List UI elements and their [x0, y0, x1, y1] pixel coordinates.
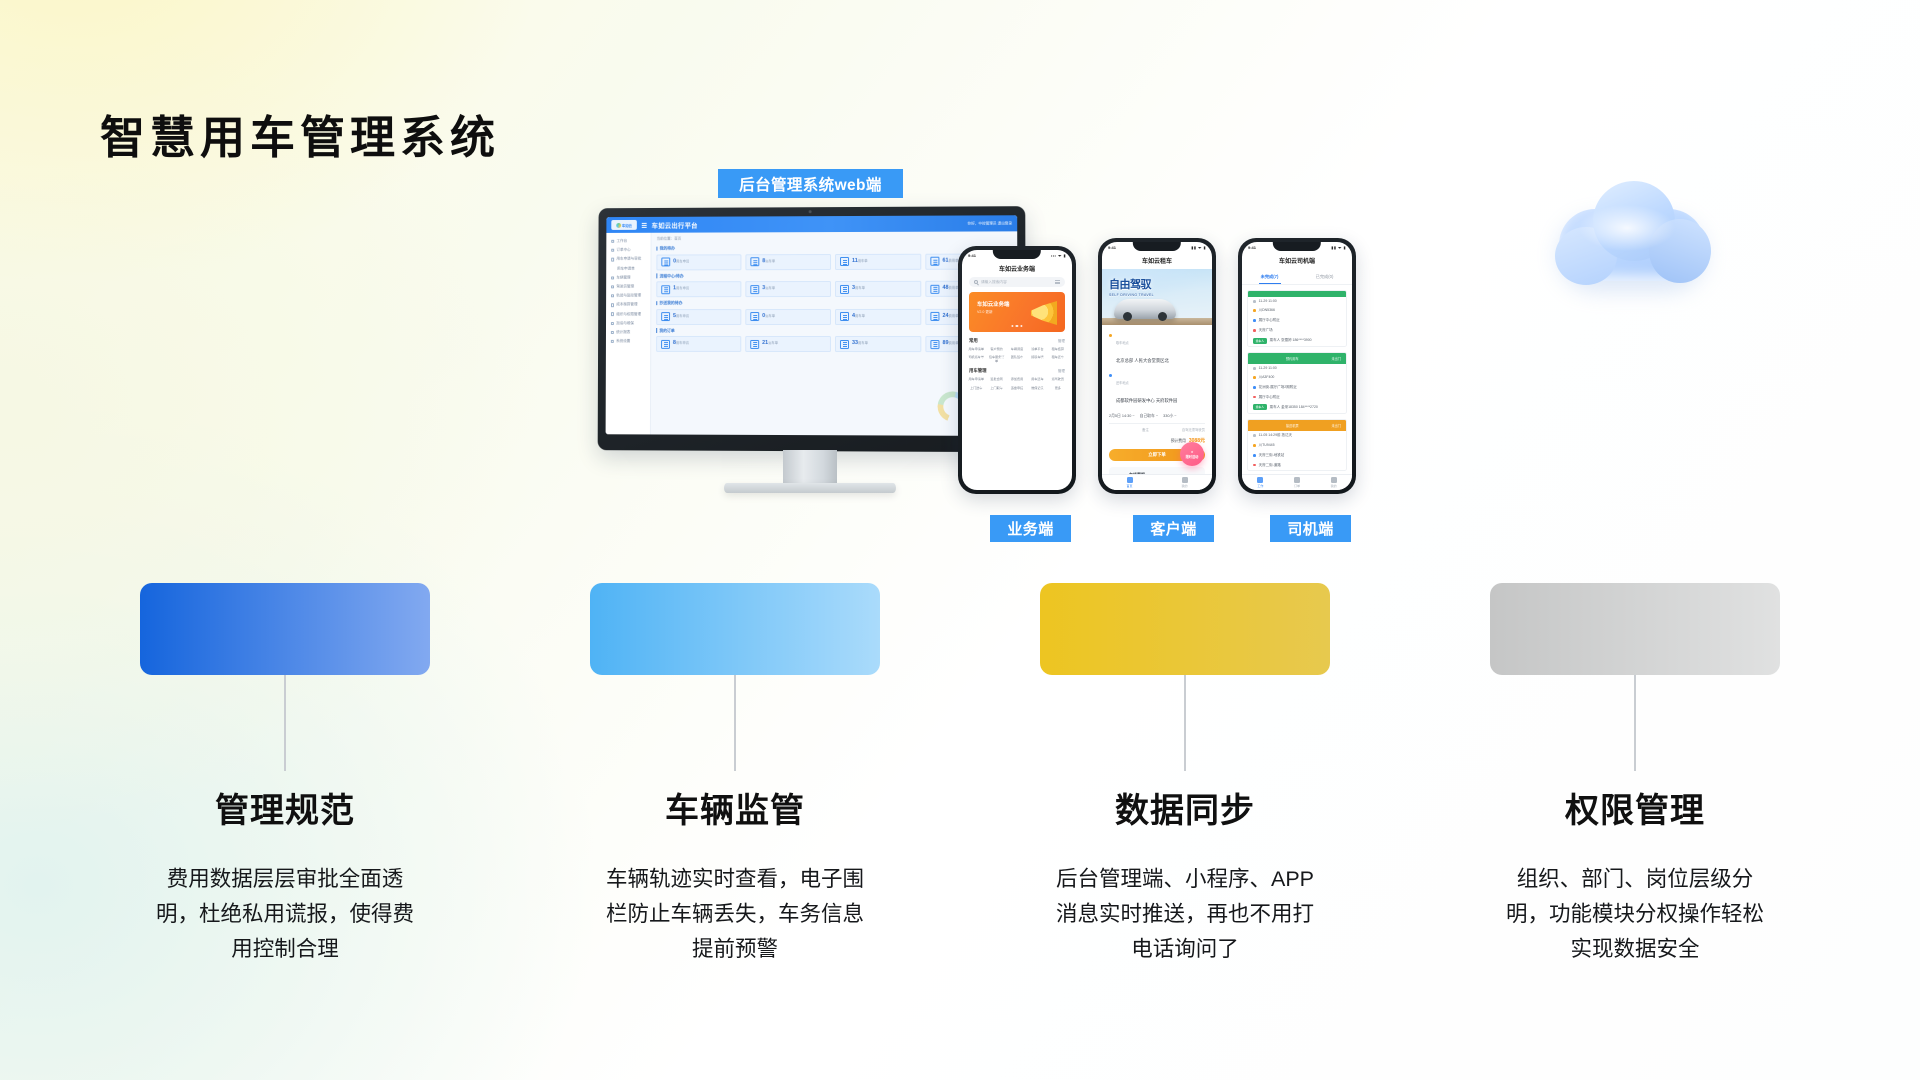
document-icon: [661, 257, 670, 266]
job-line: 11-05 14:29前 抵达天: [1248, 431, 1346, 441]
trip-datetime: 2月5日 14:30 ~: [1109, 414, 1135, 419]
sidebar-item[interactable]: 驾驶员管理: [609, 282, 647, 291]
passenger-chip: 乘车人: [1253, 404, 1267, 410]
tab-label: 我的: [1181, 484, 1187, 488]
feature-title: 车辆监管: [590, 783, 880, 832]
feature-bar: [1490, 583, 1780, 675]
badge-driver-client: 司机端: [1270, 515, 1351, 542]
app-icon-tile[interactable]: 接驳车辆: [1028, 356, 1046, 363]
job-line: 11-29 11:00: [1248, 364, 1346, 373]
app-tile-label: 团队班车: [1008, 356, 1026, 359]
car-icon: [1294, 477, 1300, 483]
tab-orders[interactable]: 订单: [1279, 475, 1316, 490]
app-icon-tile[interactable]: 派驾驶员: [1049, 378, 1067, 381]
notch: [993, 250, 1041, 259]
app-icon-tile[interactable]: 违章申报: [1008, 387, 1026, 390]
app-tile-label: 签批合同: [987, 378, 1005, 381]
sidebar-item-label: 用车申请单: [617, 266, 635, 271]
phone-mockup-driver: 9:41 ▮▮ ᯤ ▮ 车如云司机端 未完成(7) 已完成(0) 11-29 1…: [1238, 238, 1356, 494]
sidebar-item[interactable]: 系统设置: [609, 337, 647, 346]
stat-card[interactable]: 3派车单: [745, 281, 831, 297]
sidebar-item[interactable]: 组织与权限管理: [609, 310, 647, 319]
job-status: 未出门: [1331, 356, 1341, 361]
app-tile-label: 接驳车辆: [1028, 356, 1046, 359]
sidebar-icon: [611, 240, 614, 243]
app-tile-label: 维保记录: [1028, 387, 1046, 390]
sidebar-item[interactable]: 轨迹与监控管理: [609, 291, 647, 300]
app-icon-tile[interactable]: 团队班车: [1008, 356, 1026, 363]
sidebar-icon: [611, 285, 614, 288]
stat-card[interactable]: 11用车单: [835, 253, 921, 269]
sidebar-icon: [611, 258, 614, 261]
badge-customer-client: 客户端: [1133, 515, 1214, 542]
app-icon-tile[interactable]: 包车服务订单: [987, 356, 1005, 363]
document-icon: [840, 312, 849, 321]
hero-word: 自由驾驭: [1109, 279, 1151, 291]
job-line: 11-29 11:00: [1248, 297, 1346, 306]
trip-meta[interactable]: 2月5日 14:30 ~ 自己取车 ~ 330小 ~: [1109, 411, 1205, 423]
stat-card[interactable]: 33用车单: [835, 336, 921, 352]
tab-bar: 首页 我的: [1102, 474, 1212, 490]
job-line: 川A3F400: [1248, 373, 1346, 383]
app-icon-tile[interactable]: 用车申请单: [967, 378, 985, 381]
feature-connector: [284, 675, 286, 771]
document-icon: [930, 340, 939, 349]
sidebar-icon: [611, 331, 614, 334]
tab-work[interactable]: 工作: [1242, 475, 1279, 490]
section-header: 常用 管理: [962, 338, 1072, 344]
origin-icon: [1253, 319, 1256, 322]
document-icon: [930, 312, 939, 321]
job-line: 川TU9445: [1248, 441, 1346, 451]
app-icon-tile[interactable]: 用车申请单: [967, 348, 985, 351]
tab-home[interactable]: 首页: [1102, 475, 1157, 490]
sidebar-item[interactable]: 用车申请与审批: [609, 255, 647, 264]
feature-column-3: 数据同步 后台管理端、小程序、APP消息实时推送，再也不用打电话询问了: [1040, 583, 1330, 966]
stat-label: 用车申请: [676, 341, 689, 345]
notch: [1133, 242, 1181, 251]
status-time: 9:41: [968, 253, 976, 258]
topbar-user-info[interactable]: 你好，中控管理员 退出登录: [967, 221, 1012, 226]
sidebar-item[interactable]: 成本核算管理: [609, 301, 647, 310]
document-icon: [750, 339, 759, 348]
job-type: 接送机票: [1286, 423, 1299, 428]
sidebar-item[interactable]: 加油与维保: [609, 319, 647, 328]
poster-root: 智慧用车管理系统 车如云 车如云出行平台 你好，中控管理员 退出登录: [0, 0, 1920, 1080]
app-tile-label: 用车申请单: [967, 378, 985, 381]
stat-card[interactable]: 8用车申请: [656, 336, 741, 352]
app-icon-tile[interactable]: 更多: [1049, 387, 1067, 390]
plate-icon: [1253, 444, 1256, 447]
tab-bar: 工作 订单 我的: [1242, 474, 1352, 490]
phone-screen-business: 9:41 ••• ᯤ ▮ 车如云业务端 请输入搜索内容 车如云业务端 V2.0 …: [962, 250, 1072, 490]
app-icon-tile[interactable]: 租车还车: [1049, 356, 1067, 363]
monitor-screen: 车如云 车如云出行平台 你好，中控管理员 退出登录 工作台 订单中心 用车申请与…: [606, 215, 1018, 436]
document-icon: [840, 257, 849, 266]
feature-bar: [590, 583, 880, 675]
document-icon: [840, 284, 849, 293]
pickup-label: 取车地点: [1116, 341, 1129, 345]
job-line: 乘车人乘车人 金采18350 184****2720: [1248, 402, 1346, 413]
app-tile-label: 租车还车: [1049, 356, 1067, 359]
phone-title: 车如云司机端: [1242, 253, 1352, 269]
tab-label: 订单: [1294, 484, 1300, 488]
promo-fab-button[interactable]: ★ 限时活动: [1180, 442, 1204, 466]
feature-connector: [1184, 675, 1186, 771]
status-indicators: ••• ᯤ ▮: [1051, 253, 1066, 259]
fab-label: 限时活动: [1186, 454, 1199, 459]
app-icon-tile[interactable]: 司机派车单: [967, 356, 985, 363]
search-input[interactable]: 请输入搜索内容: [969, 277, 1065, 287]
app-title: 车如云出行平台: [652, 220, 698, 229]
cloud-icon: [1553, 175, 1717, 295]
origin-icon: [1253, 386, 1256, 389]
sidebar-icon: [611, 340, 614, 343]
app-tile-label: 更多: [1049, 387, 1067, 390]
promo-banner[interactable]: 车如云业务端 V2.0 更新: [969, 292, 1065, 332]
sidebar-item-label: 系统设置: [616, 339, 630, 344]
document-icon: [750, 285, 759, 294]
note-value: 自驾无须驾驶员: [1182, 427, 1205, 432]
destination-icon: [1253, 329, 1256, 332]
sidebar-item[interactable]: 订单中心: [609, 246, 647, 255]
list-menu-icon[interactable]: [1055, 280, 1060, 284]
logo-text: 车如云: [622, 222, 632, 227]
cloud-highlight: [1579, 205, 1675, 251]
user-icon: [1331, 477, 1337, 483]
stat-card[interactable]: 0用车申请: [656, 254, 741, 270]
job-line: 花洲街-展厅广场2期附近: [1248, 382, 1346, 392]
status-time: 9:41: [1248, 245, 1256, 250]
phone-title: 车如云业务端: [962, 261, 1072, 277]
sidebar-icon: [611, 294, 614, 297]
stat-label: 派车单: [765, 259, 775, 263]
document-icon: [661, 285, 670, 294]
document-icon: [750, 312, 759, 321]
clock-icon: [1253, 300, 1256, 303]
feature-column-4: 权限管理 组织、部门、岗位层级分明，功能模块分权操作轻松实现数据安全: [1490, 583, 1780, 966]
sidebar-item-label: 订单中心: [616, 248, 630, 253]
page-title: 智慧用车管理系统: [100, 101, 500, 166]
feature-description: 车辆轨迹实时查看，电子围栏防止车辆丢失，车务信息提前预警: [599, 862, 871, 966]
job-line: 乘车人乘车人 张雪婷 186****3900: [1248, 335, 1346, 346]
stat-label: 费用单: [948, 259, 958, 263]
phone-screen-driver: 9:41 ▮▮ ᯤ ▮ 车如云司机端 未完成(7) 已完成(0) 11-29 1…: [1242, 242, 1352, 490]
feature-connector: [734, 675, 736, 771]
stat-label: 费用单: [949, 286, 959, 290]
document-icon: [930, 257, 939, 266]
sidebar-item-label: 驾驶员管理: [616, 284, 634, 289]
dropoff-location-field[interactable]: 还车地点 成都软件园研发中心 天府软件园: [1109, 371, 1205, 407]
monitor-base: [724, 483, 896, 493]
brand-logo: 车如云: [611, 220, 637, 230]
stat-label: 派车单: [765, 314, 775, 318]
tab-profile[interactable]: 我的: [1157, 475, 1212, 490]
app-tile-label: 客户预约: [987, 348, 1005, 351]
logo-mark-icon: [616, 222, 621, 227]
stat-label: 用车单: [855, 286, 865, 290]
document-icon: [661, 312, 670, 321]
destination-icon: [1253, 464, 1256, 467]
dashboard-body: 工作台 订单中心 用车申请与审批 用车申请单 车辆管理 驾驶员管理 轨迹与监控管…: [606, 231, 1018, 436]
sidebar-item-label: 加油与维保: [616, 321, 634, 326]
menu-toggle-icon[interactable]: [642, 222, 647, 227]
road-shape: [1102, 318, 1212, 325]
plate-icon: [1253, 376, 1256, 379]
breadcrumb: 当前位置：首页: [656, 235, 1012, 241]
app-tile-label: 上门送车: [967, 387, 985, 390]
work-icon: [1257, 477, 1263, 483]
document-icon: [661, 339, 670, 348]
sidebar-item-label: 统计报表: [616, 330, 630, 335]
job-line: 天府广场: [1248, 325, 1346, 335]
app-icon-tile[interactable]: 客户预约: [987, 348, 1005, 351]
tab-incomplete[interactable]: 未完成(7): [1242, 269, 1297, 284]
feature-connector: [1634, 675, 1636, 771]
stat-label: 用车申请: [676, 287, 689, 291]
stat-label: 用车单: [858, 259, 868, 263]
stat-card[interactable]: 21派车单: [745, 336, 831, 352]
car-image: [1114, 299, 1176, 319]
home-icon: [1127, 477, 1133, 483]
feature-column-2: 车辆监管 车辆轨迹实时查看，电子围栏防止车辆丢失，车务信息提前预警: [590, 583, 880, 966]
feature-title: 数据同步: [1040, 783, 1330, 832]
note-row[interactable]: 备注 自驾无须驾驶员: [1109, 423, 1205, 435]
feature-title: 权限管理: [1490, 783, 1780, 832]
search-placeholder: 请输入搜索内容: [981, 280, 1007, 285]
app-tile-label: 派驾驶员: [1049, 378, 1067, 381]
tab-complete[interactable]: 已完成(0): [1297, 269, 1352, 284]
user-icon: [1182, 477, 1188, 483]
stat-label: 用车单: [858, 341, 868, 345]
clock-icon: [1253, 434, 1256, 437]
app-icon-tile[interactable]: 添加费用: [1008, 378, 1026, 381]
stat-label: 派车单: [765, 286, 775, 290]
sidebar-icon: [611, 276, 614, 279]
job-line: 展厅中心附近: [1248, 316, 1346, 326]
feature-bar: [140, 583, 430, 675]
section-title: 我的待办: [656, 244, 1012, 251]
stat-label: 用车单: [855, 314, 865, 318]
sidebar-item[interactable]: 工作台: [609, 237, 647, 246]
feature-column-1: 管理规范 费用数据层层审批全面透明，杜绝私用谎报，使得费用控制合理: [140, 583, 430, 966]
app-icon-tile[interactable]: 派单平台: [1028, 348, 1046, 351]
job-line: 天府二街-道路: [1248, 460, 1346, 470]
trip-pickup-mode: 自己取车 ~: [1140, 414, 1158, 419]
job-line: 川DN5366: [1248, 306, 1346, 316]
app-icon-tile[interactable]: 签批合同: [987, 378, 1005, 381]
stat-label: 用车申请: [676, 314, 689, 318]
app-tile-label: 租车结算: [1049, 348, 1067, 351]
hero-banner[interactable]: 自由驾驭 SELF DRIVING TRAVEL: [1102, 269, 1212, 325]
dashboard-topbar: 车如云 车如云出行平台 你好，中控管理员 退出登录: [606, 215, 1017, 233]
stat-card[interactable]: 3用车单: [835, 281, 921, 297]
app-icon-tile[interactable]: 维保记录: [1028, 387, 1046, 390]
app-grid: 用车申请单客户预约车辆调度派单平台租车结算司机派车单包车服务订单团队班车接驳车辆…: [962, 348, 1072, 368]
tab-label: 首页: [1126, 484, 1132, 488]
app-tile-label: 车辆调度: [1008, 348, 1026, 351]
hero-subtitle: SELF DRIVING TRAVEL: [1109, 293, 1154, 297]
badge-business-client: 业务端: [990, 515, 1071, 542]
sidebar-item-label: 组织与权限管理: [616, 312, 641, 317]
app-tile-label: 上门取车: [987, 387, 1005, 390]
app-tile-label: 用车还车: [1028, 378, 1046, 381]
clock-icon: [1253, 367, 1256, 370]
pickup-location-field[interactable]: 取车地点 北京总部 人民大会堂景区北: [1109, 331, 1205, 367]
sidebar-item-label: 成本核算管理: [616, 303, 637, 308]
feature-description: 组织、部门、岗位层级分明，功能模块分权操作轻松实现数据安全: [1499, 862, 1771, 966]
dropoff-dot-icon: [1109, 374, 1112, 377]
stat-card[interactable]: 4用车单: [835, 308, 921, 324]
tab-label: 我的: [1331, 484, 1337, 488]
section-title: 用车管理: [969, 368, 987, 374]
origin-icon: [1253, 454, 1256, 457]
document-icon: [930, 284, 939, 293]
tab-group: 未完成(7) 已完成(0): [1242, 269, 1352, 285]
app-tile-label: 添加费用: [1008, 378, 1026, 381]
tab-profile[interactable]: 我的: [1315, 475, 1352, 490]
dashboard-sidebar: 工作台 订单中心 用车申请与审批 用车申请单 车辆管理 驾驶员管理 轨迹与监控管…: [606, 233, 652, 435]
phone-mockup-customer: 9:41 ▮▮ ᯤ ▮ 车如云租车 自由驾驭 SELF DRIVING TRAV…: [1098, 238, 1216, 494]
feature-title: 管理规范: [140, 783, 430, 832]
notch: [1273, 242, 1321, 251]
status-indicators: ▮▮ ᯤ ▮: [1191, 245, 1206, 251]
app-grid: 用车申请单签批合同添加费用用车还车派驾驶员上门送车上门取车违章申报维保记录更多: [962, 378, 1072, 395]
feature-description: 费用数据层层审批全面透明，杜绝私用谎报，使得费用控制合理: [149, 862, 421, 966]
job-line: 展厅中心附近: [1248, 392, 1346, 402]
destination-icon: [1253, 396, 1256, 399]
app-icon-tile[interactable]: 上门取车: [987, 387, 1005, 390]
sidebar-item-label: 车辆管理: [616, 275, 630, 280]
sidebar-icon: [611, 249, 614, 252]
job-card-header: 接送机票 未出门: [1248, 420, 1346, 431]
app-icon-tile[interactable]: 上门送车: [967, 387, 985, 390]
price-label: 预计费用: [1171, 439, 1186, 444]
sidebar-item-label: 轨迹与监控管理: [616, 293, 641, 298]
sidebar-icon: [611, 322, 614, 325]
plate-icon: [1253, 309, 1256, 312]
job-card[interactable]: 预约用车 未出门 11-29 11:00 川A3F400 花洲街-展厅广场2期附…: [1247, 352, 1347, 414]
sidebar-item-label: 工作台: [617, 239, 628, 244]
stat-label: 派车单: [768, 341, 778, 345]
search-icon: [974, 280, 978, 284]
carousel-dots[interactable]: [1011, 325, 1022, 327]
booking-form: 取车地点 北京总部 人民大会堂景区北 还车地点 成都软件园研发中心 天府软件园 …: [1102, 325, 1212, 449]
section-more-link[interactable]: 管理: [1058, 369, 1065, 374]
monitor-neck: [783, 450, 837, 485]
dashboard: 车如云 车如云出行平台 你好，中控管理员 退出登录 工作台 订单中心 用车申请与…: [606, 215, 1018, 436]
stat-card[interactable]: 5用车申请: [656, 309, 741, 325]
app-tile-label: 违章申报: [1008, 387, 1026, 390]
feature-description: 后台管理端、小程序、APP消息实时推送，再也不用打电话询问了: [1049, 862, 1321, 966]
stat-card[interactable]: 0派车单: [745, 308, 831, 324]
dropoff-label: 还车地点: [1116, 381, 1129, 385]
section-header: 用车管理 管理: [962, 368, 1072, 374]
job-line: 天府三街-地铁站: [1248, 450, 1346, 460]
sidebar-item-label: 用车申请与审批: [616, 257, 641, 262]
dropoff-value: 成都软件园研发中心 天府软件园: [1116, 398, 1177, 403]
stat-card[interactable]: 8派车单: [745, 254, 831, 270]
pickup-value: 北京总部 人民大会堂景区北: [1116, 358, 1169, 363]
sidebar-item[interactable]: 统计报表: [609, 328, 647, 337]
sidebar-icon: [611, 303, 614, 306]
sidebar-icon: [611, 313, 614, 316]
passenger-chip: 乘车人: [1253, 338, 1267, 344]
status-indicators: ▮▮ ᯤ ▮: [1331, 245, 1346, 251]
phone-mockup-business: 9:41 ••• ᯤ ▮ 车如云业务端 请输入搜索内容 车如云业务端 V2.0 …: [958, 246, 1076, 494]
job-card[interactable]: 11-29 11:00 川DN5366 展厅中心附近 天府广场 乘车人乘车人 张…: [1247, 290, 1347, 347]
phone-screen-customer: 9:41 ▮▮ ᯤ ▮ 车如云租车 自由驾驭 SELF DRIVING TRAV…: [1102, 242, 1212, 490]
sidebar-item[interactable]: 车辆管理: [609, 273, 647, 282]
section-more-link[interactable]: 管理: [1058, 339, 1065, 344]
trip-duration: 330小 ~: [1163, 414, 1176, 419]
job-type: 预约用车: [1286, 356, 1299, 361]
tab-label: 工作: [1257, 484, 1263, 488]
sidebar-item[interactable]: 用车申请单: [609, 264, 647, 273]
feature-bar: [1040, 583, 1330, 675]
stat-card[interactable]: 1用车申请: [656, 281, 741, 297]
note-label: 备注: [1142, 427, 1149, 432]
status-time: 9:41: [1108, 245, 1116, 250]
badge-web-backend: 后台管理系统web端: [718, 169, 903, 198]
app-tile-label: 司机派车单: [967, 356, 985, 359]
app-icon-tile[interactable]: 用车还车: [1028, 378, 1046, 381]
job-card-header: 预约用车 未出门: [1248, 353, 1346, 364]
hero-headline: 自由驾驭 SELF DRIVING TRAVEL: [1109, 276, 1154, 297]
app-icon-tile[interactable]: 租车结算: [1049, 348, 1067, 351]
app-icon-tile[interactable]: 车辆调度: [1008, 348, 1026, 351]
app-tile-label: 派单平台: [1028, 348, 1046, 351]
job-status: 未出门: [1331, 423, 1341, 428]
stat-label: 用车申请: [676, 259, 689, 263]
app-tile-label: 用车申请单: [967, 348, 985, 351]
job-card[interactable]: 接送机票 未出门 11-05 14:29前 抵达天 川TU9445 天府三街-地…: [1247, 419, 1347, 471]
document-icon: [840, 340, 849, 349]
pickup-dot-icon: [1109, 334, 1112, 337]
section-title: 常用: [969, 338, 978, 344]
phone-title: 车如云租车: [1102, 253, 1212, 269]
webcam-icon: [809, 210, 812, 213]
document-icon: [750, 257, 759, 266]
